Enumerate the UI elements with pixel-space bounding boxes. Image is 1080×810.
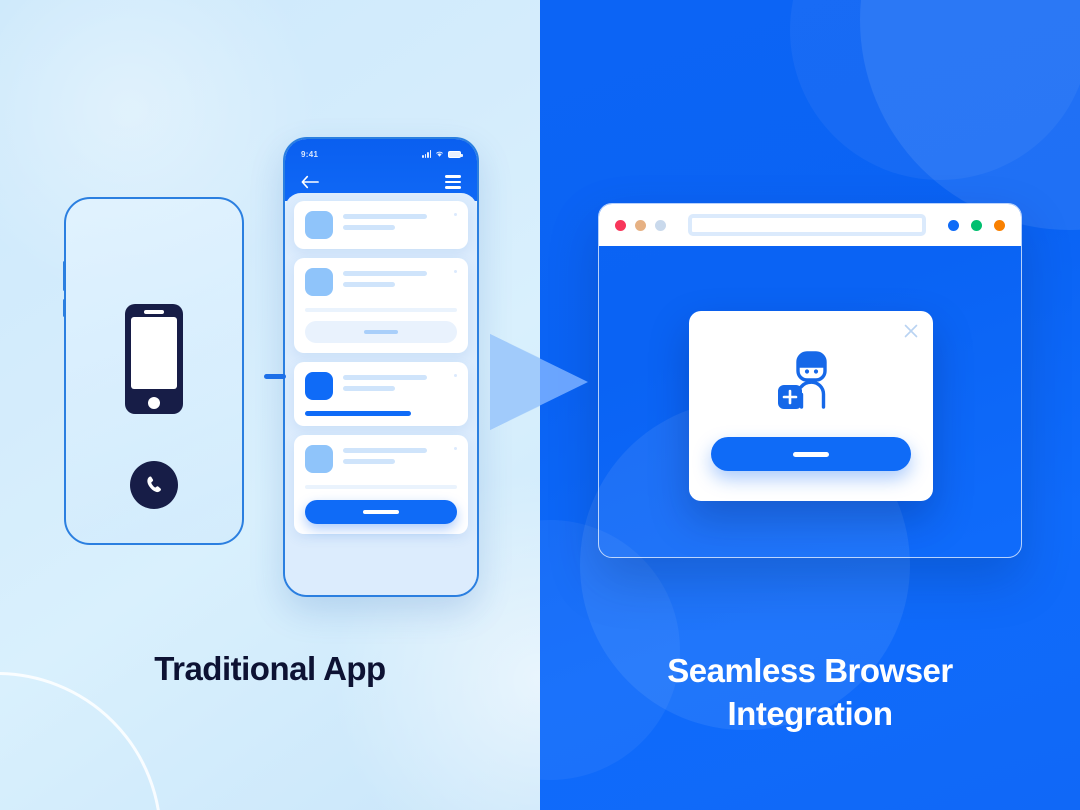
action-dot-orange[interactable]	[994, 220, 1005, 231]
support-agent-add-icon	[774, 349, 848, 411]
list-item-content	[305, 211, 457, 239]
placeholder-line	[343, 386, 395, 391]
modal-primary-button[interactable]	[711, 437, 911, 471]
hamburger-menu-icon[interactable]	[445, 175, 461, 189]
status-icons	[422, 150, 461, 158]
phone-app-mockup: 9:41	[283, 137, 479, 597]
comparison-graphic: 9:41	[0, 0, 1080, 810]
list-item-badge	[454, 213, 457, 216]
browser-toolbar	[599, 204, 1021, 246]
phone-screen	[131, 317, 177, 389]
phone-speaker	[144, 310, 164, 314]
action-dot-green[interactable]	[971, 220, 982, 231]
avatar	[305, 445, 333, 473]
phone-outline-frame	[64, 197, 244, 545]
placeholder-line	[343, 448, 427, 453]
window-controls[interactable]	[615, 220, 666, 231]
placeholder-line	[343, 225, 395, 230]
progress-bar	[305, 411, 411, 416]
list-item-badge	[454, 447, 457, 450]
list-item-content	[305, 445, 457, 473]
list-item-badge	[454, 374, 457, 377]
signal-icon	[422, 150, 431, 158]
battery-icon	[448, 151, 461, 158]
primary-button[interactable]	[305, 500, 457, 524]
avatar	[305, 372, 333, 400]
action-dot-blue[interactable]	[948, 220, 959, 231]
placeholder-lines	[343, 211, 457, 230]
connector-line	[264, 374, 286, 379]
wifi-icon	[435, 150, 444, 158]
caption-seamless-browser-integration: Seamless Browser Integration	[540, 650, 1080, 736]
placeholder-line	[343, 459, 395, 464]
placeholder-lines	[343, 445, 457, 464]
divider	[305, 485, 457, 489]
back-arrow-icon[interactable]	[301, 175, 319, 189]
avatar	[305, 268, 333, 296]
browser-viewport	[599, 246, 1021, 558]
phone-home-button	[148, 397, 160, 409]
placeholder-line	[343, 375, 427, 380]
divider	[305, 308, 457, 312]
caption-line-1: Seamless Browser	[540, 650, 1080, 693]
window-close-dot[interactable]	[615, 220, 626, 231]
phone-call-icon[interactable]	[130, 461, 178, 509]
placeholder-lines	[343, 268, 457, 287]
window-minimize-dot[interactable]	[635, 220, 646, 231]
status-time: 9:41	[301, 150, 318, 159]
left-panel: 9:41	[0, 0, 540, 810]
url-bar[interactable]	[688, 214, 926, 236]
decorative-arc	[0, 672, 162, 810]
browser-window	[598, 203, 1022, 558]
caption-line-2: Integration	[540, 693, 1080, 736]
list-item-badge	[454, 270, 457, 273]
handset-glyph	[142, 473, 166, 497]
avatar	[305, 211, 333, 239]
placeholder-line	[343, 271, 427, 276]
list-item[interactable]	[294, 201, 468, 249]
status-bar: 9:41	[285, 147, 477, 161]
modal-dialog	[689, 311, 933, 501]
button-label-placeholder	[793, 452, 829, 457]
app-header: 9:41	[285, 139, 477, 201]
button-label-placeholder	[363, 510, 399, 514]
phone-side-button-2	[63, 299, 66, 317]
toolbar-action-dots[interactable]	[948, 220, 1005, 231]
secondary-button[interactable]	[305, 321, 457, 343]
close-icon[interactable]	[903, 323, 919, 339]
list-item[interactable]	[294, 435, 468, 534]
phone-side-button	[63, 261, 66, 291]
placeholder-lines	[343, 372, 457, 391]
mobile-phone-icon	[125, 304, 183, 414]
button-label-placeholder	[364, 330, 398, 334]
window-maximize-dot[interactable]	[655, 220, 666, 231]
list-item[interactable]	[294, 362, 468, 426]
list-item-content	[305, 268, 457, 296]
list-item-content	[305, 372, 457, 400]
caption-traditional-app: Traditional App	[0, 650, 540, 688]
list-item[interactable]	[294, 258, 468, 353]
placeholder-line	[343, 214, 427, 219]
app-list-area	[285, 193, 477, 597]
placeholder-line	[343, 282, 395, 287]
